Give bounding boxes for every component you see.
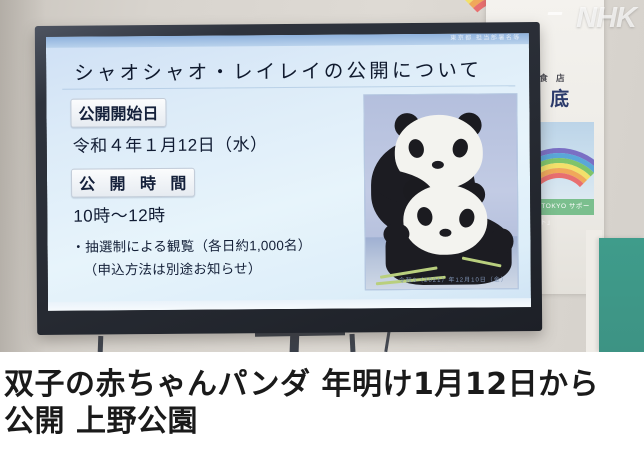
nhk-logo-bar [548,12,563,15]
field-label-start-date: 公開開始日 [70,98,166,128]
teal-wall-panel [599,238,644,352]
slide-title: シャオシャオ・レイレイの公開について [74,53,482,85]
headline-line-2: 公開 上野公園 [4,403,638,440]
monitor-stand-leg-right [350,334,356,352]
presentation-monitor: 東京都 担当部署名等 シャオシャオ・レイレイの公開について 公開開始日 令和４年… [35,22,542,335]
slide-header-bar: 東京都 担当部署名等 [46,33,529,48]
panda-photo-caption: 令和3（2021）年12月10日（金） [399,274,508,284]
field-label-viewing-hours: 公 開 時 間 [71,168,196,198]
monitor-stand-neck [290,330,300,352]
slide-footer-bar [48,298,531,311]
panda-photo: 令和3（2021）年12月10日（金） [363,93,519,290]
headline-line-1: 双子の赤ちゃんパンダ 年明け1月12日から [4,366,638,403]
panda-front-head [403,184,488,255]
slide-body: 公開開始日 令和４年１月12日（水） 公 開 時 間 10時〜12時 ・抽選制に… [70,96,359,278]
nhk-watermark: NHK [576,2,636,35]
slide-note-lottery: ・抽選制による観覧（各日約1,000名） [71,233,359,255]
field-value-start-date: 令和４年１月12日（水） [73,129,359,156]
panda-front-paw [383,223,409,245]
field-start-date: 公開開始日 令和４年１月12日（水） [70,96,358,156]
panda-rear-nose [432,161,444,169]
field-value-viewing-hours: 10時〜12時 [73,199,359,226]
slide-note-application: （申込方法は別途お知らせ） [72,256,360,278]
monitor-screen: 東京都 担当部署名等 シャオシャオ・レイレイの公開について 公開開始日 令和４年… [46,33,531,311]
slide-title-divider [62,85,515,90]
panda-front-nose [439,229,451,237]
monitor-stand-leg-left [98,336,104,352]
broadcast-video-frame: 飲 食 店 徹 底 「徹底点検 TOKYO サポート」 東京都 [0,0,644,352]
news-headline: 双子の赤ちゃんパンダ 年明け1月12日から 公開 上野公園 [0,352,644,462]
field-viewing-hours: 公 開 時 間 10時〜12時 [71,166,359,226]
presentation-slide: 東京都 担当部署名等 シャオシャオ・レイレイの公開について 公開開始日 令和４年… [46,33,531,311]
panda-front-paw-right [489,228,513,254]
slide-header-text: 東京都 担当部署名等 [450,33,521,45]
